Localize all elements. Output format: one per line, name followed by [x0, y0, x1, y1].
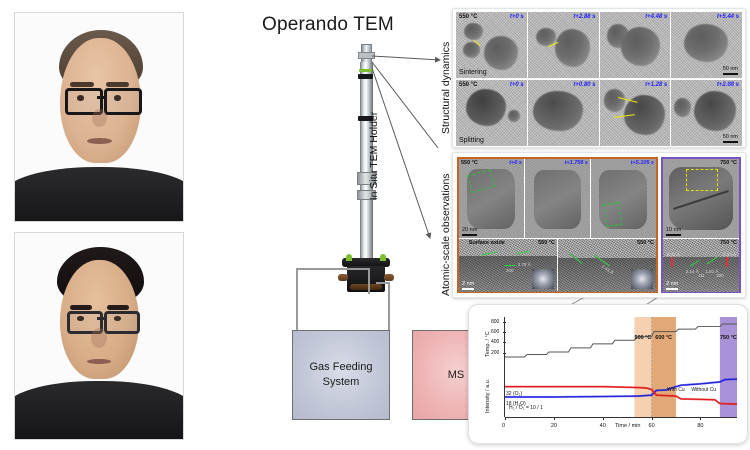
nanoparticle-faceted [534, 170, 581, 229]
portrait-brow-right-bottom [107, 305, 129, 310]
gas-feeding-system-label: Gas Feeding System [293, 360, 389, 390]
y-axis-tick: 800 [491, 319, 499, 325]
x-axis-tick: 40 [600, 423, 606, 429]
tem-frame[interactable]: t+2.88 s [528, 12, 599, 78]
hrtem-frame[interactable]: 550 °C 2.43 Å [558, 239, 656, 292]
timestamp-label: t+5.105 s [631, 160, 654, 166]
atomic-frame[interactable]: 750 °C 10 nm [663, 159, 739, 238]
scale-bar: 2 nm [462, 281, 474, 290]
portrait-shoulders-top [14, 167, 184, 221]
scale-bar-text: 2 nm [462, 281, 474, 287]
portrait-eye-right-top [114, 95, 121, 100]
pipe-gas-vertical [296, 268, 298, 330]
nanoparticle-large [621, 27, 661, 67]
portrait-eye-left-bottom [77, 316, 84, 321]
temperature-label: 750 °C [720, 240, 737, 246]
holder-knob-left [338, 274, 348, 281]
atomic-bottom-row-750c: 750 °C 2.44 Å 2.53 Å 2.14 Å 1.81 Å 111 2… [663, 239, 739, 292]
timestamp-label: t+0.80 s [573, 82, 595, 88]
roi-yellow-dashed-box [686, 169, 718, 192]
atomic-top-row-550c: 550 °C t+0 s 20 nm t+1.756 s [459, 159, 656, 238]
y-axis-tick: 200 [491, 350, 499, 356]
arrow-to-atomic [372, 68, 430, 238]
surface-oxide-label: Surface oxide [469, 240, 505, 246]
y-axis-label-temperature: Temp. / °C [485, 331, 491, 357]
fft-inset [532, 269, 554, 289]
portrait-eye-left-top [77, 95, 84, 100]
tem-frame[interactable]: t+0.80 s [528, 80, 599, 146]
eyeglasses-right-lens-bottom [104, 311, 140, 333]
y-axis-tick: 400 [491, 339, 499, 345]
atomic-bottom-row-550c: Surface oxide 550 °C 2.78 Å 200 2 nm [459, 239, 656, 292]
y-axis-label-intensity: Intensity / a.u. [485, 379, 491, 413]
temperature-label: 550 °C [461, 160, 478, 166]
temperature-label: 550 °C [538, 240, 555, 246]
lattice-plane-label: 200 [506, 268, 514, 273]
atomic-group-550c: 550 °C t+0 s 20 nm t+1.756 s [457, 157, 658, 293]
nanoparticle-large [466, 89, 506, 126]
y-axis-tick: 600 [491, 329, 499, 335]
chart-svg [505, 317, 737, 417]
tem-frame[interactable]: t+5.44 s 50 nm [671, 12, 742, 78]
timestamp-label: t+0 s [510, 14, 524, 20]
lattice-marker-3 [504, 265, 516, 266]
atomic-frame[interactable]: t+1.756 s [525, 159, 590, 238]
arrow-to-structural [372, 56, 440, 60]
process-label-splitting: Splitting [459, 137, 484, 144]
nanoparticle-merged [684, 24, 728, 62]
x-axis-tick: 0 [502, 423, 505, 429]
timestamp-label: t+4.48 s [645, 14, 667, 20]
operando-ms-chart-panel: 500 °C600 °C750 °C18 (H₂O)32 (O₂)With Cu… [468, 304, 748, 444]
scale-bar: 20 nm [462, 227, 477, 236]
scale-bar-sintering: 50 nm [723, 66, 738, 75]
temperature-label: 550 °C [637, 240, 654, 246]
page-title: Operando TEM [262, 14, 394, 36]
atomic-frame[interactable]: 550 °C t+0 s 20 nm [459, 159, 524, 238]
atomic-groups: 550 °C t+0 s 20 nm t+1.756 s [457, 157, 741, 293]
eyeglasses-right-lens-top [104, 88, 142, 115]
lattice-plane-label-2: 200 [716, 273, 724, 278]
tem-frame[interactable]: t+1.28 s [600, 80, 671, 146]
hrtem-frame[interactable]: 750 °C 2.44 Å 2.53 Å 2.14 Å 1.81 Å 111 2… [663, 239, 739, 292]
temperature-label: 550 °C [459, 82, 477, 88]
structural-dynamics-panel: 550 °C t+0 s Sintering t+2.88 s t+4.48 s [452, 8, 746, 148]
leader-arrows [360, 48, 456, 298]
portrait-brow-left-bottom [70, 305, 92, 310]
portrait-brow-left-top [70, 82, 94, 87]
scale-bar: 2 nm [666, 281, 678, 290]
atomic-frame[interactable]: t+5.105 s [591, 159, 656, 238]
portrait-photo-top [14, 12, 184, 222]
holder-green-clip-left [346, 254, 352, 261]
fft-inset [631, 269, 653, 289]
lattice-plane-label-1: 111 [698, 273, 705, 278]
pipe-gas-horizontal [296, 268, 370, 270]
lattice-spacing-label-2: 2.53 Å [723, 252, 736, 257]
lattice-spacing-label-1: 2.44 Å [667, 252, 680, 257]
portrait-brow-right-top [106, 82, 130, 87]
roi-green-box [604, 202, 623, 227]
tem-row-sintering: 550 °C t+0 s Sintering t+2.88 s t+4.48 s [456, 12, 742, 78]
tem-frame[interactable]: 550 °C t+0 s Sintering [456, 12, 527, 78]
eyeglasses-bridge-bottom [97, 317, 104, 320]
temperature-label: 550 °C [459, 14, 477, 20]
portrait-photo-bottom [14, 232, 184, 440]
atomic-scale-panel: 550 °C t+0 s 20 nm t+1.756 s [452, 152, 746, 298]
nanoparticle-small [464, 23, 482, 40]
nanoparticle-fragment [604, 89, 625, 111]
chart-plot-area: 500 °C600 °C750 °C18 (H₂O)32 (O₂)With Cu… [505, 317, 737, 417]
eyeglasses-bridge-top [97, 96, 104, 99]
process-label-sintering: Sintering [459, 69, 487, 76]
scale-bar-text: 50 nm [723, 66, 738, 72]
spacing-marker-red-2 [726, 257, 728, 267]
portrait-eye-right-bottom [114, 316, 121, 321]
atomic-top-row-750c: 750 °C 10 nm [663, 159, 739, 238]
x-axis-label: Time / min [615, 423, 640, 429]
tem-frame[interactable]: 550 °C t+0 s Splitting [456, 80, 527, 146]
tem-frame[interactable]: t+4.48 s [600, 12, 671, 78]
temperature-label: 750 °C [720, 160, 737, 166]
timestamp-label: t+1.756 s [565, 160, 588, 166]
tem-row-splitting: 550 °C t+0 s Splitting t+0.80 s t+1.28 s [456, 80, 742, 146]
spacing-marker-red [671, 257, 673, 267]
nanoparticle-large [533, 91, 583, 132]
y-axis-line [504, 317, 505, 417]
x-axis-tick: 80 [697, 423, 703, 429]
gas-feeding-system-box[interactable]: Gas Feeding System [292, 330, 390, 420]
arrow-to-structural-2 [372, 62, 438, 148]
scale-bar-text: 2 nm [666, 281, 678, 287]
timestamp-label: t+5.44 s [717, 14, 739, 20]
x-axis-line [505, 417, 737, 418]
tem-frame[interactable]: t+2.08 s 50 nm [671, 80, 742, 146]
lattice-spacing-label-3: 2.14 Å [686, 269, 699, 274]
portrait-shoulders-bottom [14, 381, 184, 439]
portrait-mouth-bottom [87, 359, 111, 364]
nanoparticle-large [555, 29, 590, 67]
timestamp-label: t+0 s [510, 82, 524, 88]
scale-bar-splitting: 50 nm [723, 134, 738, 143]
timestamp-label: t+2.08 s [717, 82, 739, 88]
scale-bar: 10 nm [666, 227, 681, 236]
hrtem-frame[interactable]: Surface oxide 550 °C 2.78 Å 200 2 nm [459, 239, 557, 292]
gas-ratio-note: H₂ / O₂ = 10 / 1 [509, 405, 543, 411]
scale-bar-text: 50 nm [723, 134, 738, 140]
nanoparticle-small [508, 110, 519, 122]
nanoparticle-large [484, 36, 518, 70]
x-axis-tick: 60 [649, 423, 655, 429]
nanoparticle-fragment [674, 98, 691, 116]
timestamp-label: t+0 s [509, 160, 522, 166]
x-axis-tick: 20 [551, 423, 557, 429]
atomic-group-750c: 750 °C 10 nm 750 °C 2.44 Å 2.53 [661, 157, 741, 293]
timestamp-label: t+2.88 s [573, 14, 595, 20]
scale-bar-text: 20 nm [462, 227, 477, 233]
lattice-spacing-label: 2.78 Å [518, 262, 531, 267]
timestamp-label: t+1.28 s [645, 82, 667, 88]
scale-bar-text: 10 nm [666, 227, 681, 233]
figure-canvas: Operando TEM In Situ TEM Holder Gas Feed… [0, 0, 750, 450]
ms-label: MS [448, 368, 465, 383]
